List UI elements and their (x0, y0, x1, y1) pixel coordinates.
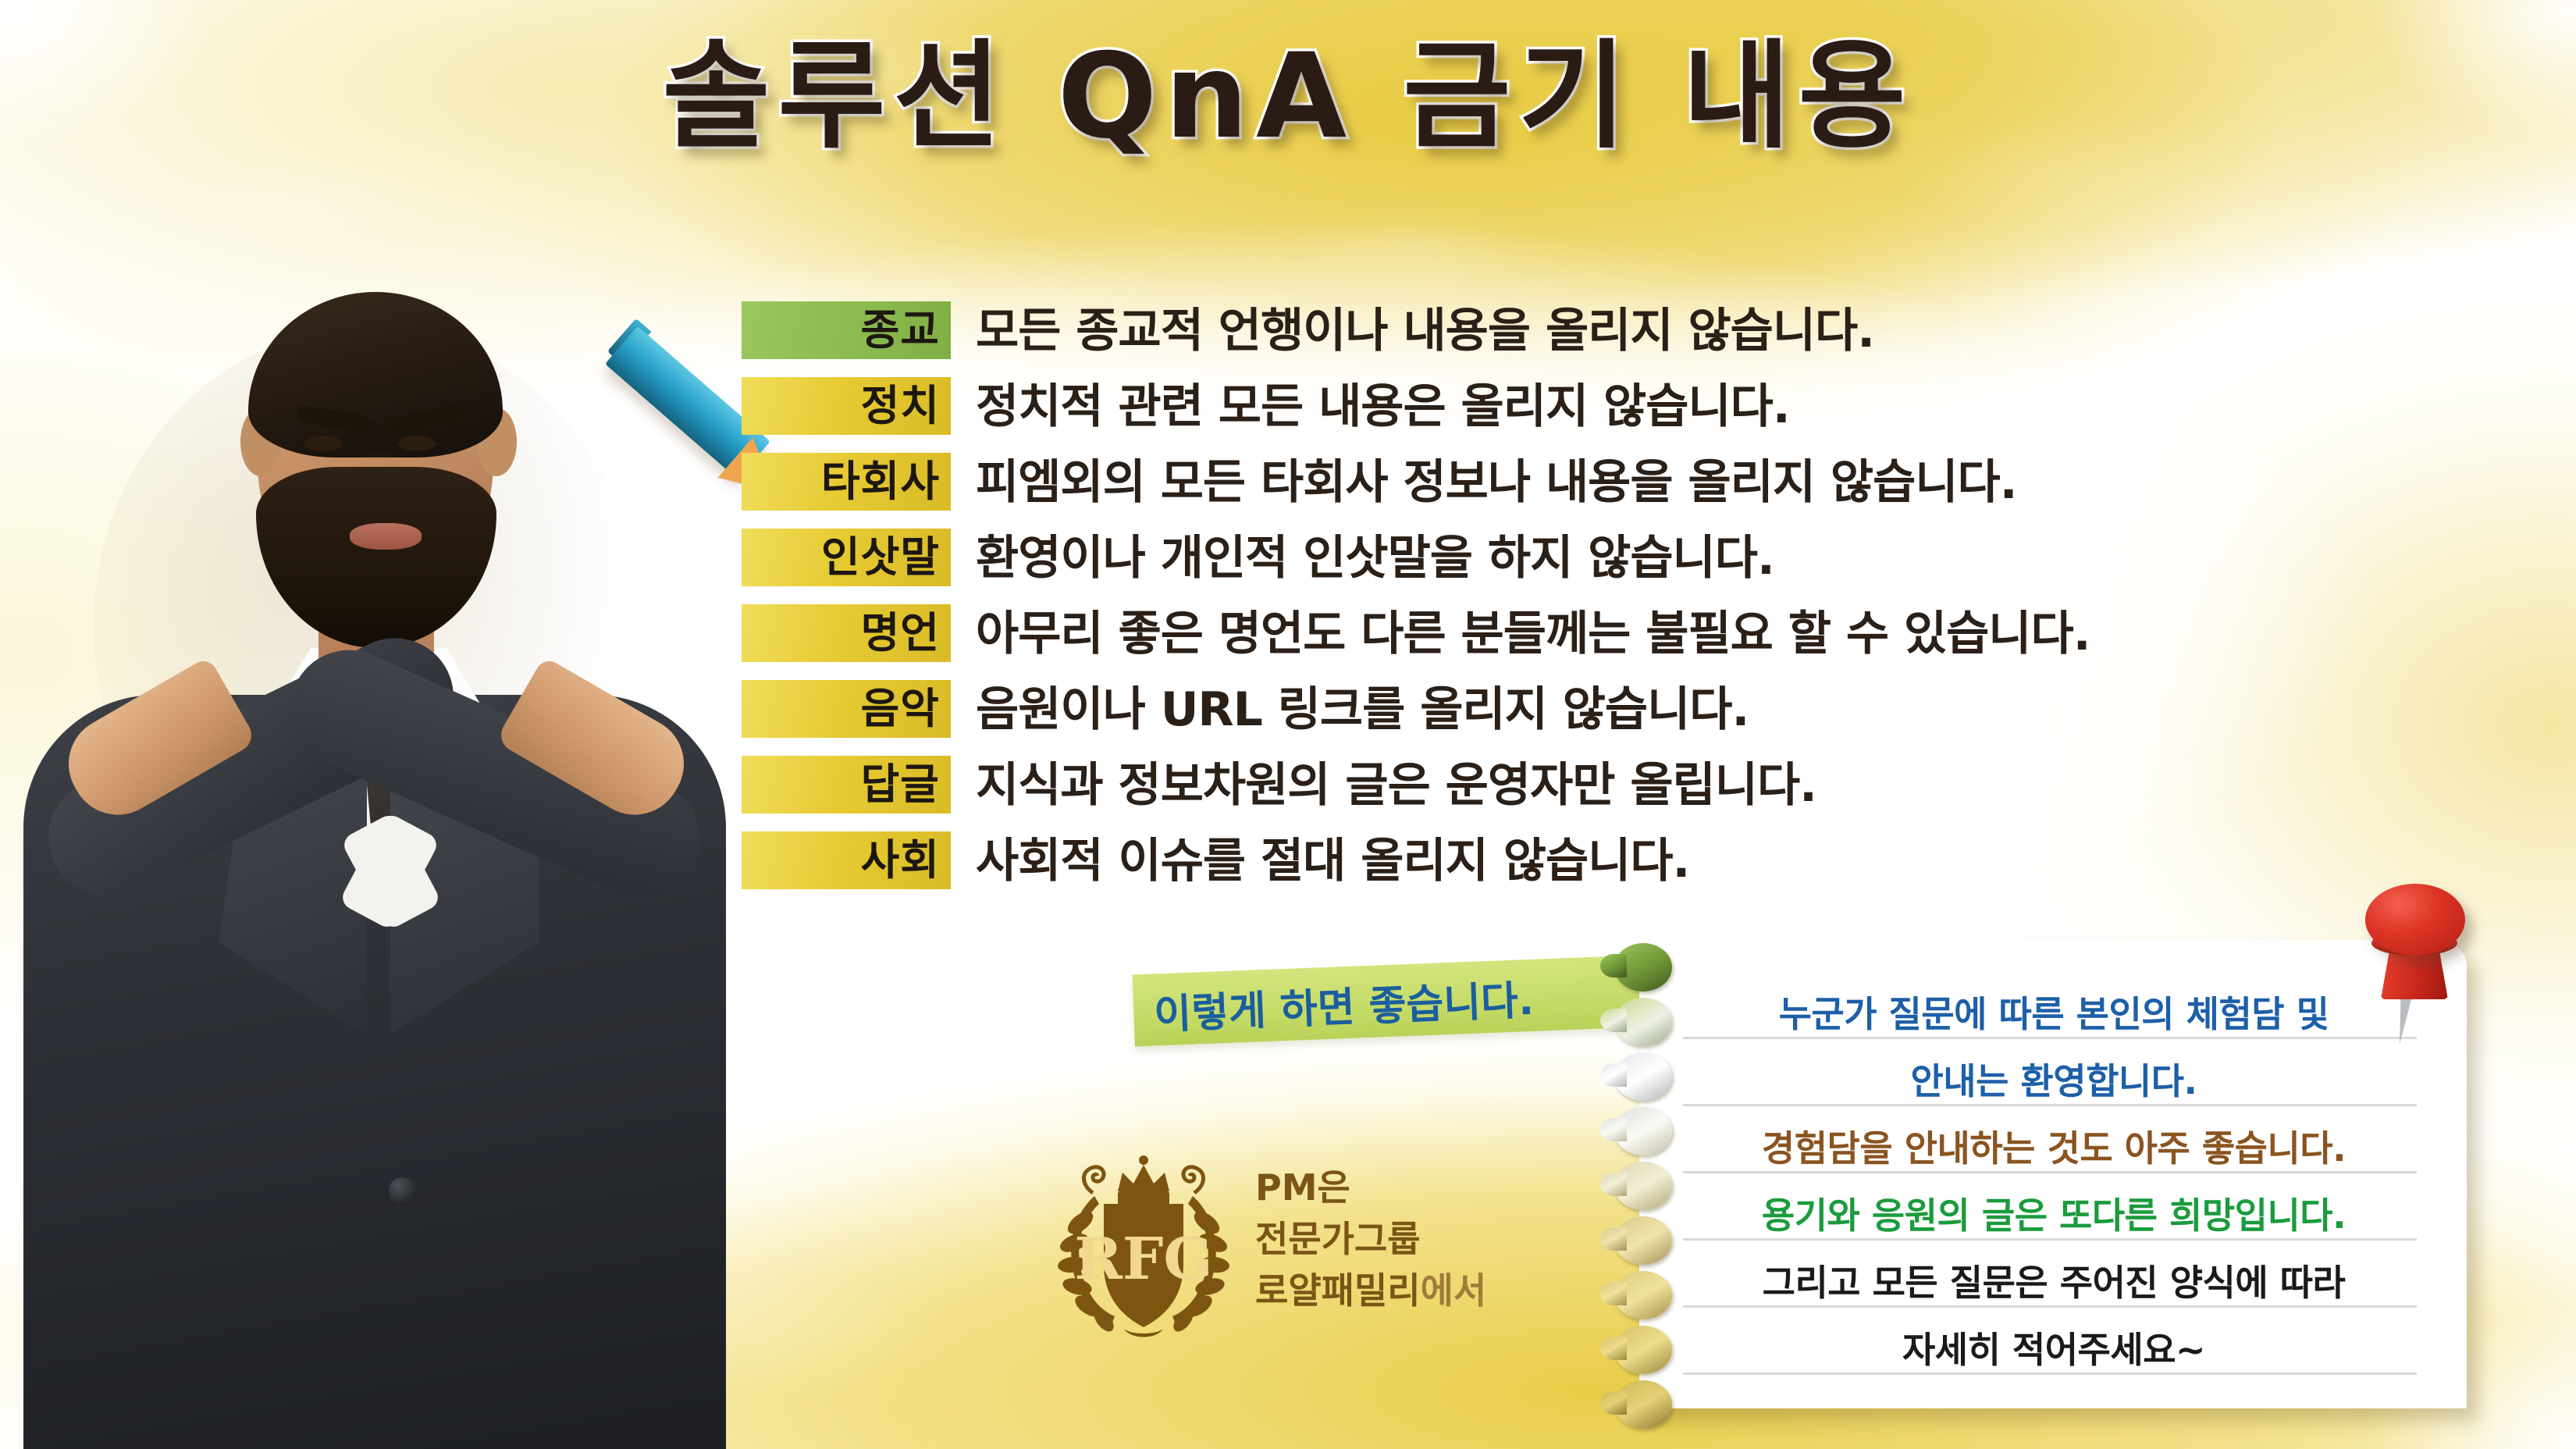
rule-row: 정치 정치적 관련 모든 내용은 올리지 않습니다. (742, 377, 2459, 453)
rule-text-greeting: 환영이나 개인적 인삿말을 하지 않습니다. (976, 527, 1774, 589)
rule-tag-music: 음악 (742, 680, 951, 738)
spiral-ring (1614, 943, 1672, 992)
poster-root: 솔루션 QnA 금기 내용 종교 (0, 0, 2576, 1449)
logo-caption-line-3-suffix: 에서 (1421, 1269, 1487, 1312)
logo-caption-line-3-main: 로얄패밀리 (1255, 1269, 1421, 1312)
pushpin-head (2365, 884, 2465, 956)
spiral-ring (1614, 1107, 1672, 1155)
rule-tag-politics: 정치 (742, 377, 951, 435)
rule-text-quotes: 아무리 좋은 명언도 다른 분들께는 불필요 할 수 있습니다. (976, 603, 2090, 665)
memo-line-2: 안내는 환영합니다. (1683, 1048, 2425, 1115)
rfg-logo-block: RFG PM은 전문가그룹 로얄패밀리에서 (1046, 1148, 1585, 1343)
forbidden-rules-list: 종교 모든 종교적 언행이나 내용을 올리지 않습니다. 정치 정치적 관련 모… (742, 301, 2459, 907)
rule-row: 인삿말 환영이나 개인적 인삿말을 하지 않습니다. (742, 529, 2459, 604)
rule-tag-religion: 종교 (742, 301, 951, 359)
spiral-ring (1614, 998, 1672, 1046)
rule-row: 타회사 피엠외의 모든 타회사 정보나 내용을 올리지 않습니다. (742, 453, 2459, 529)
rule-text-reply: 지식과 정보차원의 글은 운영자만 올립니다. (976, 754, 1816, 817)
rule-text-music: 음원이나 URL 링크를 올리지 않습니다. (976, 678, 1749, 741)
pushpin-icon (2354, 887, 2503, 1043)
rule-row: 사회 사회적 이슈를 절대 올리지 않습니다. (742, 831, 2459, 907)
rule-tag-society: 사회 (742, 831, 951, 889)
spiral-ring (1614, 1052, 1672, 1101)
hair (248, 292, 503, 457)
rfg-crest-icon: RFG (1046, 1148, 1241, 1343)
jacket-button (389, 1177, 415, 1204)
logo-caption-line-2: 전문가그룹 (1255, 1213, 1486, 1265)
spiral-ring (1614, 1326, 1672, 1374)
rule-text-religion: 모든 종교적 언행이나 내용을 올리지 않습니다. (976, 300, 1874, 362)
logo-caption: PM은 전문가그룹 로얄패밀리에서 (1255, 1162, 1486, 1316)
rule-tag-quotes: 명언 (742, 604, 951, 662)
memo-text-block: 누군가 질문에 따른 본인의 체험담 및 안내는 환영합니다. 경험담을 안내하… (1683, 981, 2425, 1383)
rule-tag-reply: 답글 (742, 756, 951, 814)
spiral-ring (1614, 1162, 1672, 1210)
spiral-ring (1614, 1216, 1672, 1265)
rule-tag-other-company: 타회사 (742, 453, 951, 511)
eye-left (304, 436, 342, 451)
rule-row: 종교 모든 종교적 언행이나 내용을 올리지 않습니다. (742, 301, 2459, 377)
rule-row: 음악 음원이나 URL 링크를 올리지 않습니다. (742, 680, 2459, 756)
page-title: 솔루션 QnA 금기 내용 (0, 28, 2576, 166)
rule-text-other-company: 피엠외의 모든 타회사 정보나 내용을 올리지 않습니다. (976, 451, 2017, 514)
recommendation-banner: 이렇게 하면 좋습니다. (1132, 956, 1642, 1047)
spiral-ring (1614, 1380, 1672, 1429)
memo-line-1: 누군가 질문에 따른 본인의 체험담 및 (1683, 981, 2425, 1048)
rule-text-society: 사회적 이슈를 절대 올리지 않습니다. (976, 830, 1689, 892)
logo-caption-line-3: 로얄패밀리에서 (1255, 1265, 1486, 1316)
recommendation-banner-label: 이렇게 하면 좋습니다. (1153, 967, 1535, 1041)
rule-tag-greeting: 인삿말 (742, 529, 951, 586)
rfg-monogram: RFG (1074, 1226, 1212, 1293)
memo-line-4: 용기와 응원의 글은 또다른 희망입니다. (1683, 1182, 2425, 1249)
memo-line-6: 자세히 적어주세요~ (1683, 1316, 2425, 1383)
spiral-ring (1614, 1271, 1672, 1319)
logo-caption-line-1: PM은 (1255, 1162, 1486, 1213)
memo-line-3: 경험담을 안내하는 것도 아주 좋습니다. (1683, 1115, 2425, 1182)
rule-text-politics: 정치적 관련 모든 내용은 올리지 않습니다. (976, 376, 1790, 438)
mouth (350, 523, 422, 550)
rule-row: 답글 지식과 정보차원의 글은 운영자만 올립니다. (742, 756, 2459, 831)
eye-right (398, 436, 436, 451)
rule-row: 명언 아무리 좋은 명언도 다른 분들께는 불필요 할 수 있습니다. (742, 604, 2459, 680)
memo-line-5: 그리고 모든 질문은 주어진 양식에 따라 (1683, 1249, 2425, 1316)
